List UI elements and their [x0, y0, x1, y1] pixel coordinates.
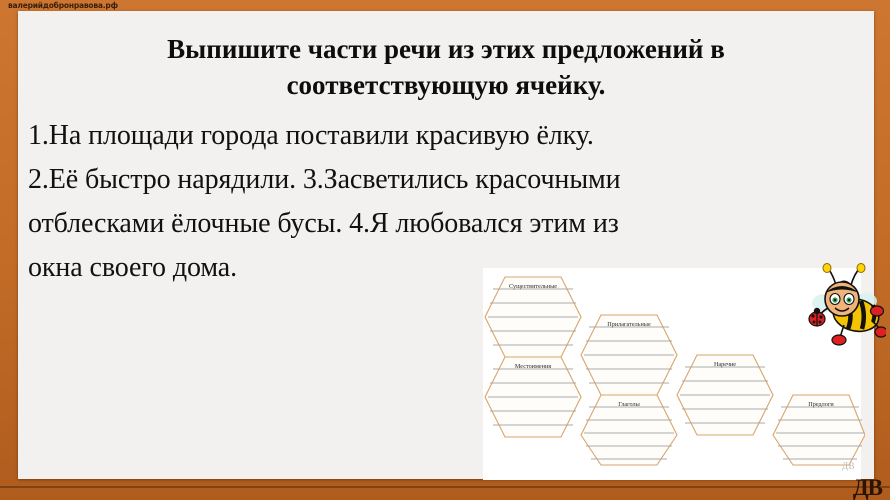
worksheet-watermark: ДВ	[842, 461, 855, 471]
page-title: Выпишите части речи из этих предложений …	[58, 32, 834, 103]
slide-panel: Выпишите части речи из этих предложений …	[18, 11, 874, 479]
worksheet-cell-prepositions[interactable]: Предлоги	[773, 395, 865, 465]
sentence-line-3: отблесками ёлочные бусы. 4.Я любовался э…	[28, 202, 864, 246]
worksheet-cell-label-prepositions: Предлоги	[808, 401, 834, 408]
bee-icon	[804, 263, 886, 347]
page-title-line-2: соответствующую ячейку.	[287, 70, 606, 100]
page-title-line-1: Выпишите части речи из этих предложений …	[167, 34, 725, 64]
worksheet-cell-nouns[interactable]: Существительные	[485, 277, 581, 357]
worksheet-cell-label-adverbs: Наречие	[714, 361, 736, 368]
worksheet-cell-verbs[interactable]: Глаголы	[581, 395, 677, 465]
worksheet-cell-pronouns[interactable]: Местоимения	[485, 357, 581, 437]
frame-bottom-rule	[0, 486, 890, 488]
author-monogram: ДВ	[853, 476, 882, 499]
bee-illustration	[804, 263, 886, 347]
sentence-line-1: 1.На площади города поставили красивую ё…	[28, 114, 864, 158]
worksheet-cell-adverbs[interactable]: Наречие	[677, 355, 773, 435]
slide: валерийдобронравова.рф Выпишите части ре…	[0, 0, 890, 500]
worksheet-cell-label-pronouns: Местоимения	[515, 363, 551, 370]
site-watermark: валерийдобронравова.рф	[8, 1, 118, 10]
sentence-line-2: 2.Её быстро нарядили. 3.Засветились крас…	[28, 158, 864, 202]
worksheet-cell-label-verbs: Глаголы	[618, 401, 640, 408]
worksheet-cell-label-adjectives: Прилагательные	[607, 321, 651, 328]
worksheet-cell-adjectives[interactable]: Прилагательные	[581, 315, 677, 395]
worksheet-cell-label-nouns: Существительные	[509, 283, 557, 290]
